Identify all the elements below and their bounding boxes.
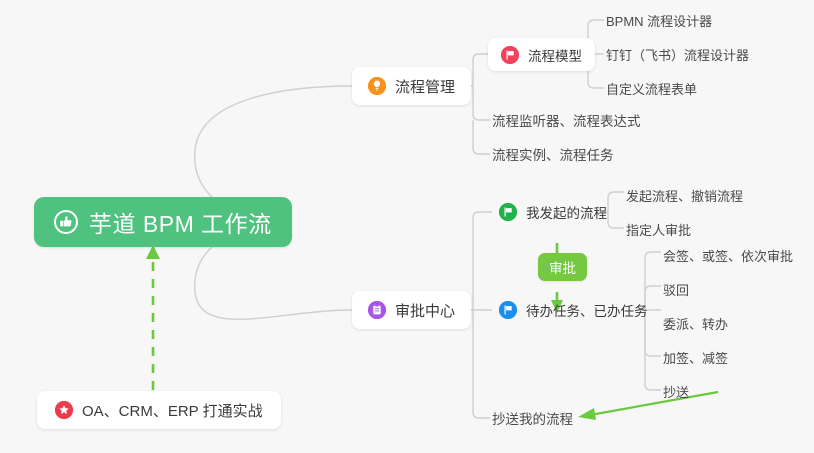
node-label: 待办任务、已办任务 xyxy=(526,300,648,320)
node-custom-process-form[interactable]: 自定义流程表单 xyxy=(600,75,703,101)
node-todo-done-task[interactable]: 待办任务、已办任务 xyxy=(488,295,659,325)
branch-node-process-management[interactable]: 流程管理 xyxy=(352,67,471,105)
node-add-remove-sign[interactable]: 加签、减签 xyxy=(657,344,734,370)
star-icon xyxy=(55,401,73,419)
thumbs-up-icon xyxy=(54,210,78,234)
branch-label: 流程管理 xyxy=(395,76,455,97)
node-label: 委派、转办 xyxy=(663,314,728,333)
mindmap-canvas: 芋道 BPM 工作流 流程管理 流程模型 BPMN 流程设计器 钉钉（飞书）流程 xyxy=(0,0,814,453)
node-reject[interactable]: 驳回 xyxy=(657,276,695,302)
node-cc[interactable]: 抄送 xyxy=(657,378,695,404)
node-label: 指定人审批 xyxy=(626,220,691,239)
connector-ac-to-ccme xyxy=(473,310,490,418)
node-label: BPMN 流程设计器 xyxy=(606,11,712,30)
node-process-instance-task[interactable]: 流程实例、流程任务 xyxy=(486,141,620,167)
approve-badge-label: 审批 xyxy=(549,257,576,277)
node-label: 加签、减签 xyxy=(663,348,728,367)
node-cc-to-me-process[interactable]: 抄送我的流程 xyxy=(486,405,579,431)
node-label: 流程监听器、流程表达式 xyxy=(492,110,641,130)
branch-node-approval-center[interactable]: 审批中心 xyxy=(352,291,471,329)
node-dingtalk-feishu-designer[interactable]: 钉钉（飞书）流程设计器 xyxy=(600,41,755,67)
bottom-note[interactable]: OA、CRM、ERP 打通实战 xyxy=(37,391,281,429)
branch-label: 审批中心 xyxy=(395,300,455,321)
flag-icon xyxy=(501,46,519,64)
arrow-bottom-note-to-root xyxy=(146,245,160,390)
node-label: 抄送 xyxy=(663,382,689,401)
node-label: 流程模型 xyxy=(528,45,582,65)
node-label: 发起流程、撤销流程 xyxy=(626,186,743,205)
node-my-initiated-process[interactable]: 我发起的流程 xyxy=(488,197,618,227)
node-process-listener-expression[interactable]: 流程监听器、流程表达式 xyxy=(486,107,647,133)
connector-ac-to-my-initiated xyxy=(473,212,492,310)
node-label: 自定义流程表单 xyxy=(606,79,697,98)
clipboard-icon xyxy=(368,301,386,319)
node-label: 流程实例、流程任务 xyxy=(492,144,614,164)
flag-icon xyxy=(499,203,517,221)
flag-icon xyxy=(499,301,517,319)
bottom-note-label: OA、CRM、ERP 打通实战 xyxy=(82,400,263,421)
arrow-cc-to-ccme xyxy=(578,392,718,420)
node-countersign-orsign-sequential[interactable]: 会签、或签、依次审批 xyxy=(657,242,799,268)
node-assignee-approval[interactable]: 指定人审批 xyxy=(620,216,697,242)
node-delegate-transfer[interactable]: 委派、转办 xyxy=(657,310,734,336)
root-label: 芋道 BPM 工作流 xyxy=(89,205,272,239)
lightbulb-icon xyxy=(368,77,386,95)
root-node[interactable]: 芋道 BPM 工作流 xyxy=(34,197,292,247)
node-start-cancel-process[interactable]: 发起流程、撤销流程 xyxy=(620,182,749,208)
node-bpmn-designer[interactable]: BPMN 流程设计器 xyxy=(600,7,718,33)
node-label: 我发起的流程 xyxy=(526,202,607,222)
node-process-model[interactable]: 流程模型 xyxy=(488,38,595,71)
node-label: 驳回 xyxy=(663,280,689,299)
approve-badge: 审批 xyxy=(538,253,587,281)
node-label: 抄送我的流程 xyxy=(492,408,573,428)
node-label: 会签、或签、依次审批 xyxy=(663,246,793,265)
node-label: 钉钉（飞书）流程设计器 xyxy=(606,45,749,64)
